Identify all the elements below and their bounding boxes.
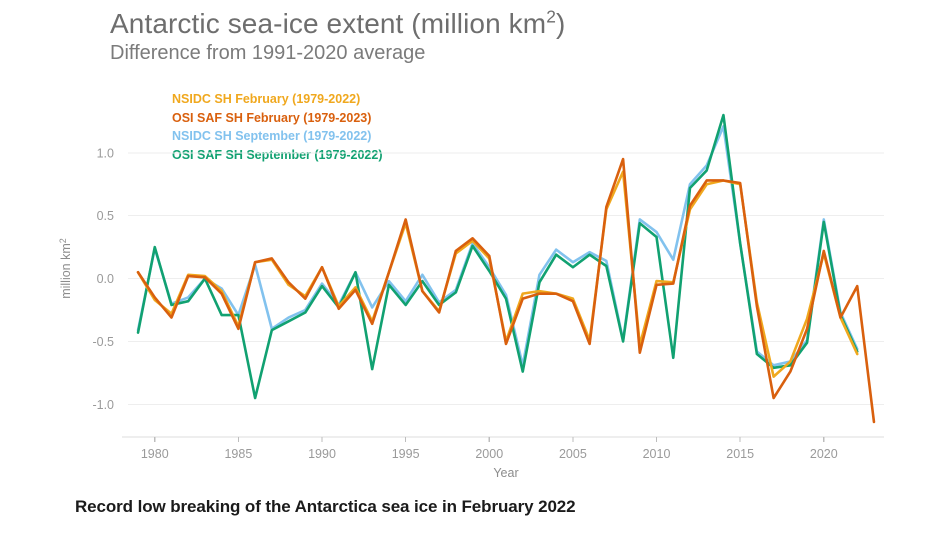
- y-tick-label: 0.5: [97, 209, 114, 223]
- y-tick-label: 1.0: [97, 146, 114, 160]
- x-axis-title: Year: [493, 466, 518, 480]
- x-tick-label: 2010: [643, 447, 671, 461]
- x-tick-label: 2005: [559, 447, 587, 461]
- slide-root: Antarctic sea-ice extent (million km2) D…: [0, 0, 929, 547]
- y-tick-label: -1.0: [92, 398, 114, 412]
- series-line: [138, 159, 874, 422]
- slide-caption: Record low breaking of the Antarctica se…: [75, 497, 576, 517]
- x-tick-label: 1985: [224, 447, 252, 461]
- y-tick-label: -0.5: [92, 335, 114, 349]
- x-tick-label: 1995: [392, 447, 420, 461]
- y-axis-title: million km2: [58, 238, 73, 299]
- x-tick-label: 1980: [141, 447, 169, 461]
- y-tick-label: 0.0: [97, 272, 114, 286]
- x-tick-label: 2000: [475, 447, 503, 461]
- x-tick-label: 2015: [726, 447, 754, 461]
- x-tick-label: 2020: [810, 447, 838, 461]
- line-chart: 1.00.50.0-0.5-1.019801985199019952000200…: [0, 0, 929, 490]
- x-tick-label: 1990: [308, 447, 336, 461]
